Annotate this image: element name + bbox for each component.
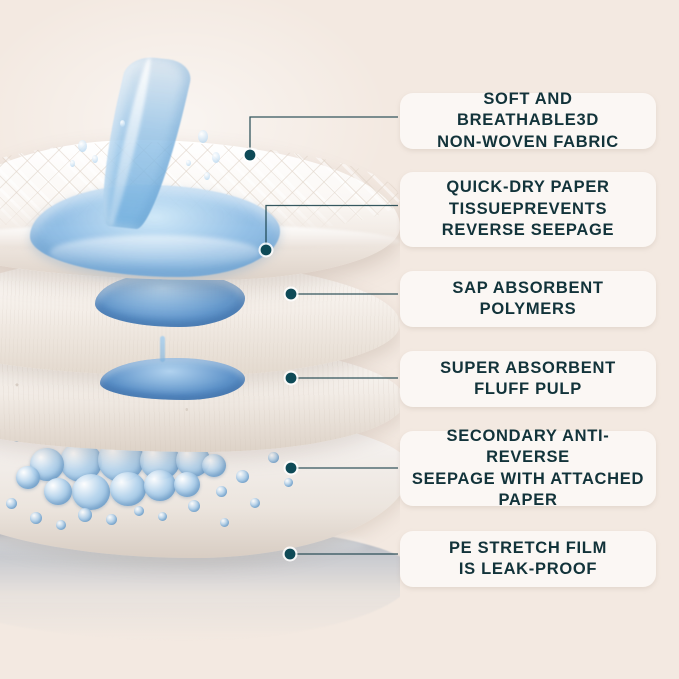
label-card-layer-3[interactable]: SAP ABSORBENT POLYMERS <box>400 271 656 327</box>
label-card-layer-4[interactable]: SUPER ABSORBENT FLUFF PULP <box>400 351 656 407</box>
label-text-layer-4: SUPER ABSORBENT FLUFF PULP <box>440 358 616 401</box>
infographic-root: SOFT AND BREATHABLE3D NON-WOVEN FABRICQU… <box>0 0 679 679</box>
label-text-layer-2: QUICK-DRY PAPER TISSUEPREVENTS REVERSE S… <box>442 177 615 241</box>
label-card-layer-2[interactable]: QUICK-DRY PAPER TISSUEPREVENTS REVERSE S… <box>400 172 656 247</box>
label-cards-group: SOFT AND BREATHABLE3D NON-WOVEN FABRICQU… <box>0 0 679 679</box>
label-text-layer-5: SECONDARY ANTI-REVERSE SEEPAGE WITH ATTA… <box>410 426 646 512</box>
label-text-layer-3: SAP ABSORBENT POLYMERS <box>452 278 603 321</box>
label-text-layer-1: SOFT AND BREATHABLE3D NON-WOVEN FABRIC <box>410 89 646 153</box>
label-card-layer-1[interactable]: SOFT AND BREATHABLE3D NON-WOVEN FABRIC <box>400 93 656 149</box>
label-text-layer-6: PE STRETCH FILM IS LEAK-PROOF <box>449 538 607 581</box>
label-card-layer-5[interactable]: SECONDARY ANTI-REVERSE SEEPAGE WITH ATTA… <box>400 431 656 506</box>
label-card-layer-6[interactable]: PE STRETCH FILM IS LEAK-PROOF <box>400 531 656 587</box>
